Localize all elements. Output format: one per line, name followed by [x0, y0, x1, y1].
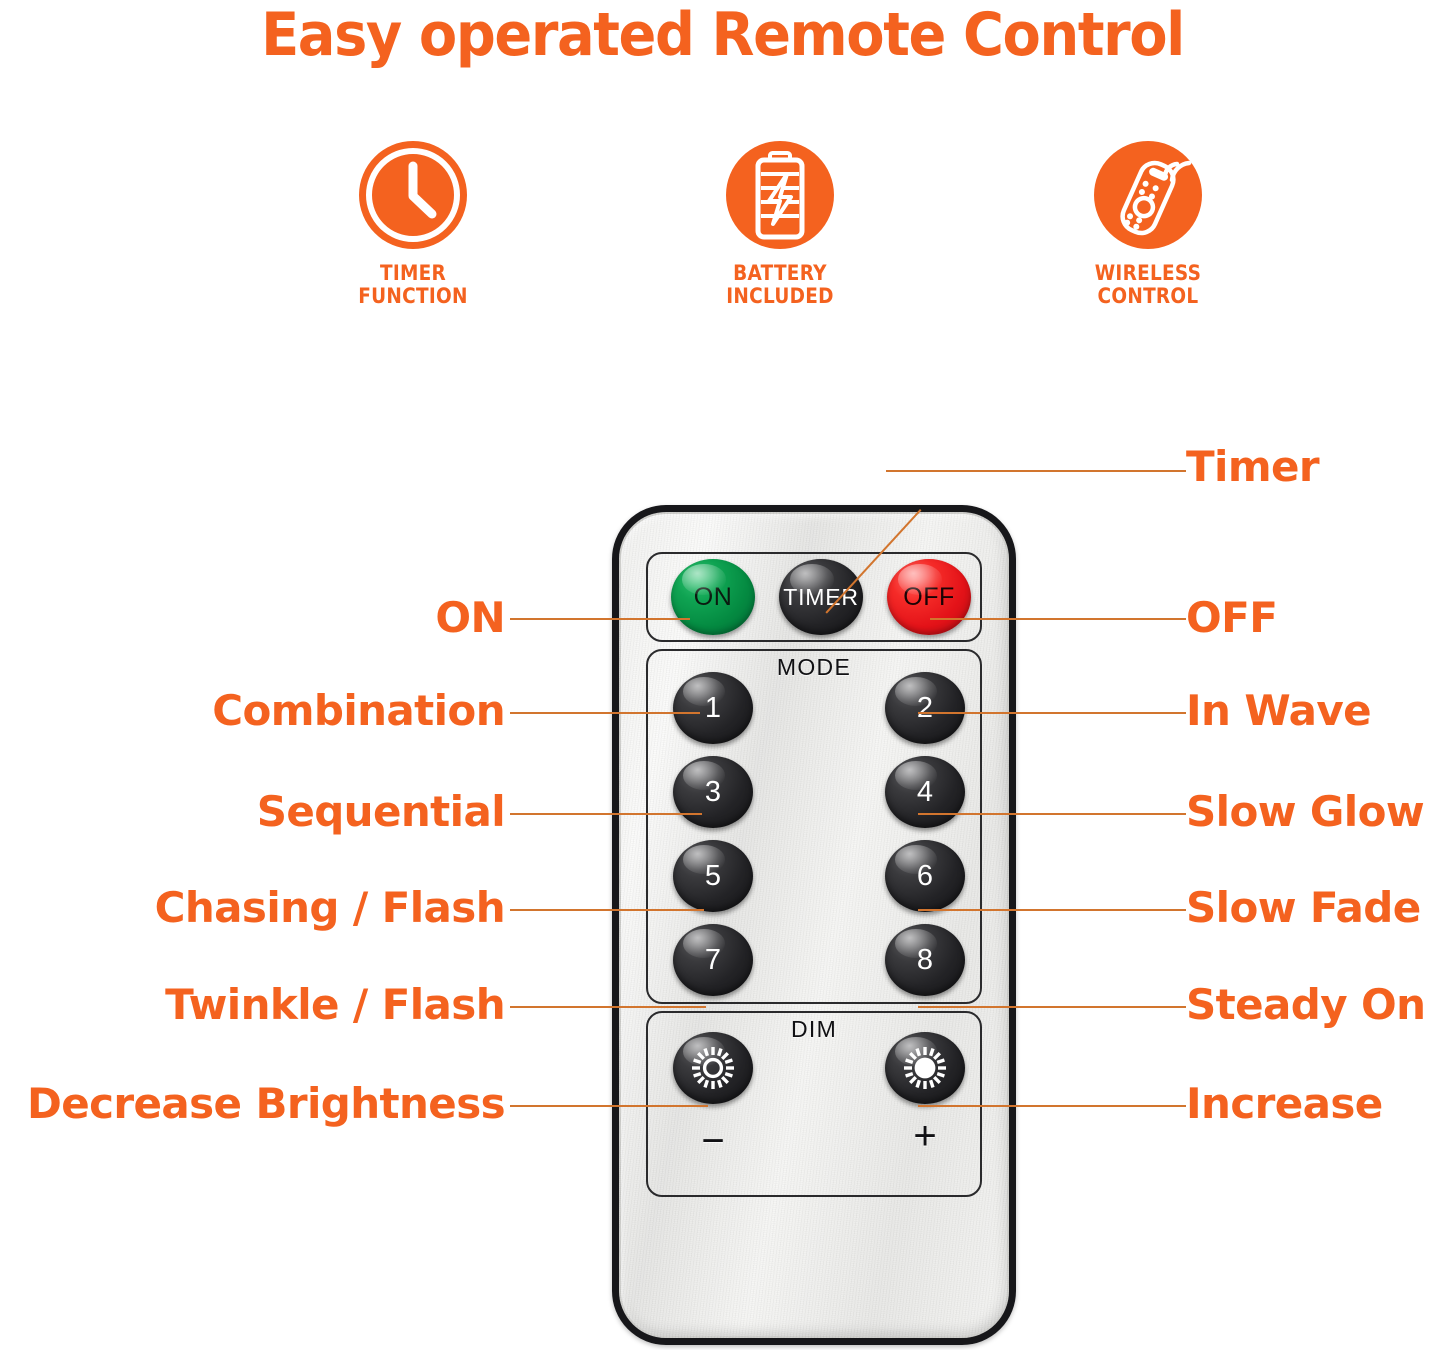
mode-panel-caption: MODE — [619, 654, 1009, 681]
feature-caption-line2: INCLUDED — [674, 285, 885, 308]
remote-button-mode-1[interactable]: 1 — [673, 672, 753, 744]
callout-timer: Timer — [1186, 444, 1319, 490]
sun-filled-icon — [901, 1044, 949, 1092]
remote-button-mode-6[interactable]: 6 — [885, 840, 965, 912]
feature-caption: WIRELESS CONTROL — [1042, 262, 1253, 308]
leader-line-increase — [918, 1105, 1186, 1107]
dim-panel-caption: DIM — [619, 1016, 1009, 1043]
sun-outline-icon — [689, 1044, 737, 1092]
remote-button-on[interactable]: ON — [671, 559, 755, 635]
product-infographic: Easy operated Remote Control TIMER FUNCT… — [0, 0, 1445, 1350]
leader-line-steady-on — [918, 1006, 1186, 1008]
remote-button-timer[interactable]: TIMER — [779, 559, 863, 635]
dim-increase-sign: + — [885, 1116, 965, 1156]
callout-on: ON — [5, 595, 505, 641]
remote-button-mode-7[interactable]: 7 — [673, 924, 753, 996]
callout-slow-fade: Slow Fade — [1186, 885, 1421, 931]
feature-caption-line2: FUNCTION — [307, 285, 518, 308]
feature-caption-line2: CONTROL — [1042, 285, 1253, 308]
callout-off: OFF — [1186, 595, 1277, 641]
leader-line-combination — [510, 712, 700, 714]
clock-icon — [358, 140, 468, 250]
remote-button-mode-8[interactable]: 8 — [885, 924, 965, 996]
feature-wireless-control: WIRELESS CONTROL — [1028, 140, 1268, 308]
feature-timer-function: TIMER FUNCTION — [293, 140, 533, 308]
leader-line-slow-glow — [918, 813, 1186, 815]
leader-line-sequential — [510, 813, 702, 815]
feature-caption-line1: WIRELESS — [1042, 262, 1253, 285]
callout-decrease-brightness: Decrease Brightness — [5, 1081, 505, 1127]
remote-control-device: MODE DIM ON TIMER OFF 1 2 3 4 5 6 7 8 — [612, 505, 1016, 1345]
callout-combination: Combination — [5, 688, 505, 734]
remote-button-dim-increase[interactable] — [885, 1032, 965, 1104]
leader-line-chasing-flash — [510, 909, 704, 911]
callout-sequential: Sequential — [5, 789, 505, 835]
leader-line-off — [930, 618, 1186, 620]
callout-twinkle-flash: Twinkle / Flash — [5, 982, 505, 1028]
battery-icon — [725, 140, 835, 250]
remote-signal-icon — [1093, 140, 1203, 250]
remote-button-mode-3[interactable]: 3 — [673, 756, 753, 828]
page-title: Easy operated Remote Control — [51, 2, 1395, 68]
feature-caption: TIMER FUNCTION — [307, 262, 518, 308]
leader-line-slow-fade — [918, 909, 1186, 911]
dim-decrease-sign: − — [673, 1121, 753, 1161]
feature-caption-line1: BATTERY — [674, 262, 885, 285]
callout-in-wave: In Wave — [1186, 688, 1371, 734]
remote-button-dim-decrease[interactable] — [673, 1032, 753, 1104]
callout-chasing-flash: Chasing / Flash — [5, 885, 505, 931]
leader-line-decrease-brightness — [510, 1105, 708, 1107]
callout-increase: Increase — [1186, 1081, 1383, 1127]
remote-button-mode-2[interactable]: 2 — [885, 672, 965, 744]
remote-button-off[interactable]: OFF — [887, 559, 971, 635]
remote-button-mode-5[interactable]: 5 — [673, 840, 753, 912]
leader-line-timer — [886, 470, 1186, 472]
leader-line-on — [510, 618, 690, 620]
callout-slow-glow: Slow Glow — [1186, 789, 1424, 835]
leader-line-twinkle-flash — [510, 1006, 706, 1008]
callout-steady-on: Steady On — [1186, 982, 1425, 1028]
feature-caption: BATTERY INCLUDED — [674, 262, 885, 308]
feature-battery-included: BATTERY INCLUDED — [660, 140, 900, 308]
feature-caption-line1: TIMER — [307, 262, 518, 285]
remote-button-mode-4[interactable]: 4 — [885, 756, 965, 828]
leader-line-in-wave — [918, 712, 1186, 714]
